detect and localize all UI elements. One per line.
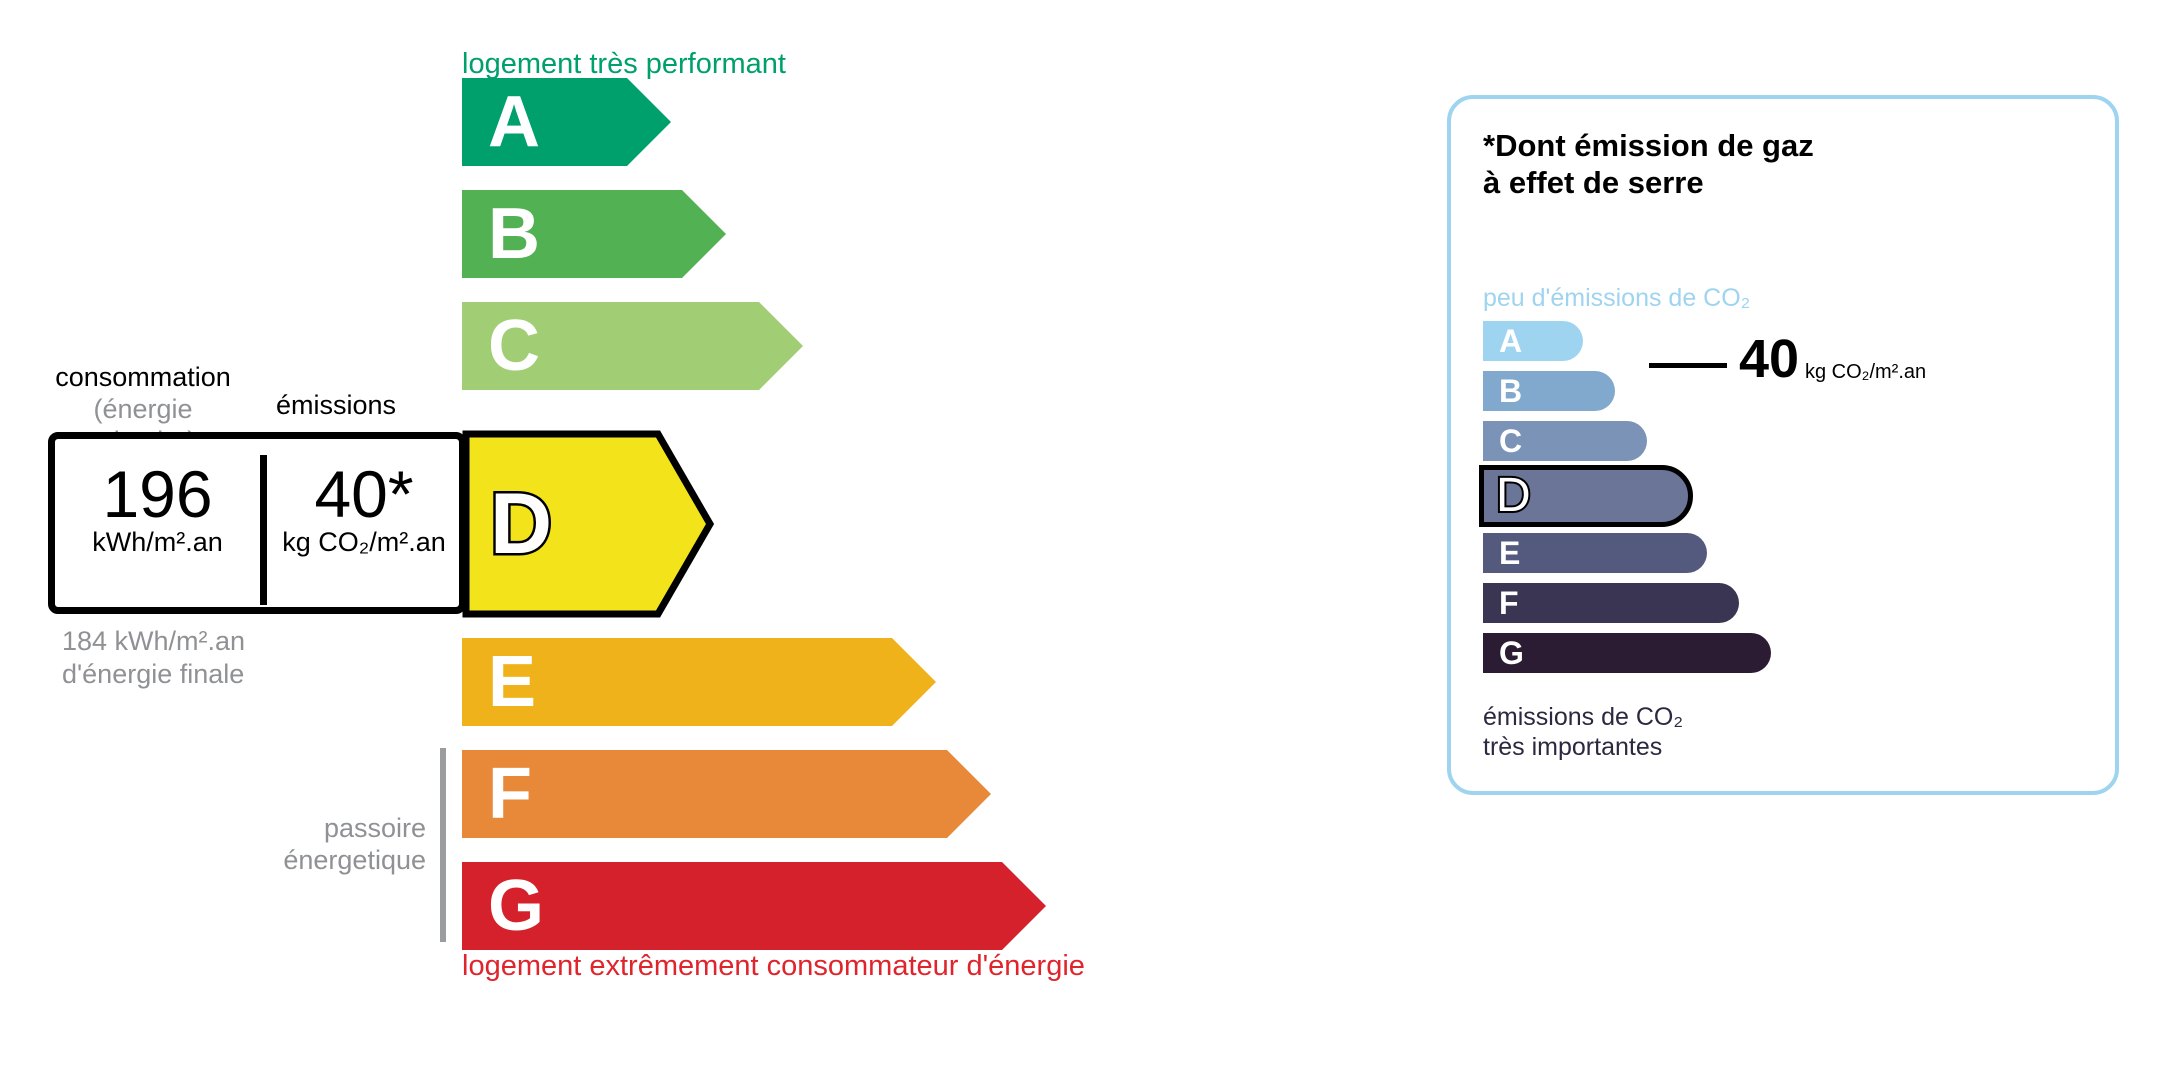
energy-arrow-G: G <box>462 862 1046 950</box>
ges-class-letter-C: C <box>1499 425 1522 457</box>
emission-unit: kg CO₂/m².an <box>267 528 461 558</box>
ges-bottom-caption: émissions de CO₂ très importantes <box>1483 702 1683 762</box>
energy-class-row-G[interactable]: G <box>462 862 1046 950</box>
ges-class-letter-F: F <box>1499 587 1519 619</box>
energy-class-row-C[interactable]: C <box>462 302 803 390</box>
dpe-value-box: 196 kWh/m².an 40* kg CO₂/m².an <box>48 432 466 614</box>
energy-arrow-F: F <box>462 750 991 838</box>
consumption-unit: kWh/m².an <box>55 528 260 558</box>
ges-class-letter-B: B <box>1499 375 1522 407</box>
ges-leader-line <box>1649 363 1727 368</box>
energy-class-letter-E: E <box>488 646 536 718</box>
consumption-label-line1: consommation <box>55 362 231 392</box>
ges-class-row-D-active[interactable]: D <box>1479 465 1693 527</box>
energy-arrow-C: C <box>462 302 803 390</box>
energy-class-row-D-active[interactable]: D <box>462 430 714 618</box>
energy-arrow-B: B <box>462 190 726 278</box>
energy-class-letter-B: B <box>488 198 540 270</box>
energy-class-letter-D: D <box>490 481 552 567</box>
emission-value-cell: 40* kg CO₂/m².an <box>267 461 461 558</box>
ges-class-row-A[interactable]: A <box>1483 321 1583 361</box>
energy-arrow-F-body <box>462 750 947 838</box>
energy-class-row-B[interactable]: B <box>462 190 726 278</box>
energy-arrow-G-tip <box>1002 862 1046 950</box>
energy-arrow-B-tip <box>682 190 726 278</box>
final-energy-label: 184 kWh/m².an d'énergie finale <box>62 625 245 691</box>
passoire-label-line1: passoire <box>230 812 426 844</box>
energy-class-letter-C: C <box>488 310 540 382</box>
energy-arrow-E-tip <box>892 638 936 726</box>
ges-class-letter-E: E <box>1499 537 1520 569</box>
passoire-label: passoire énergetique <box>230 812 426 877</box>
ges-class-letter-D: D <box>1496 472 1531 520</box>
energy-class-letter-A: A <box>488 86 540 158</box>
ges-class-letter-A: A <box>1499 325 1522 357</box>
energy-class-row-F[interactable]: F <box>462 750 991 838</box>
energy-arrow-F-tip <box>947 750 991 838</box>
energy-class-row-A[interactable]: A <box>462 78 671 166</box>
energy-arrow-A: A <box>462 78 671 166</box>
ges-emissions-panel: *Dont émission de gaz à effet de serre p… <box>1447 95 2119 795</box>
ges-class-letter-G: G <box>1499 637 1524 669</box>
ges-class-row-F[interactable]: F <box>1483 583 1739 623</box>
ges-top-caption: peu d'émissions de CO₂ <box>1483 284 1750 313</box>
energy-arrow-A-tip <box>627 78 671 166</box>
ges-value-unit: kg CO₂/m².an <box>1805 361 1926 384</box>
emission-value: 40* <box>267 461 461 528</box>
ges-panel-title: *Dont émission de gaz à effet de serre <box>1483 127 1814 201</box>
energy-arrow-A-body <box>462 78 627 166</box>
final-energy-line2: d'énergie finale <box>62 658 245 691</box>
dpe-bottom-caption: logement extrêmement consommateur d'éner… <box>462 950 1085 983</box>
consumption-value: 196 <box>55 461 260 528</box>
dpe-energy-panel: logement très performant A B C <box>0 0 1400 1079</box>
value-box-divider <box>260 455 267 605</box>
ges-value: 40 <box>1739 332 1799 386</box>
passoire-bracket-line <box>440 748 446 942</box>
ges-class-row-E[interactable]: E <box>1483 533 1707 573</box>
energy-arrow-C-tip <box>759 302 803 390</box>
passoire-label-line2: énergetique <box>230 844 426 876</box>
energy-class-letter-G: G <box>488 870 544 942</box>
ges-class-row-G[interactable]: G <box>1483 633 1771 673</box>
final-energy-line1: 184 kWh/m².an <box>62 625 245 658</box>
energy-class-letter-F: F <box>488 758 532 830</box>
energy-class-row-E[interactable]: E <box>462 638 936 726</box>
energy-arrow-E: E <box>462 638 936 726</box>
consumption-value-cell: 196 kWh/m².an <box>55 461 260 558</box>
ges-class-row-C[interactable]: C <box>1483 421 1647 461</box>
emissions-label: émissions <box>276 390 396 421</box>
ges-class-row-B[interactable]: B <box>1483 371 1615 411</box>
dpe-top-caption: logement très performant <box>462 48 786 81</box>
